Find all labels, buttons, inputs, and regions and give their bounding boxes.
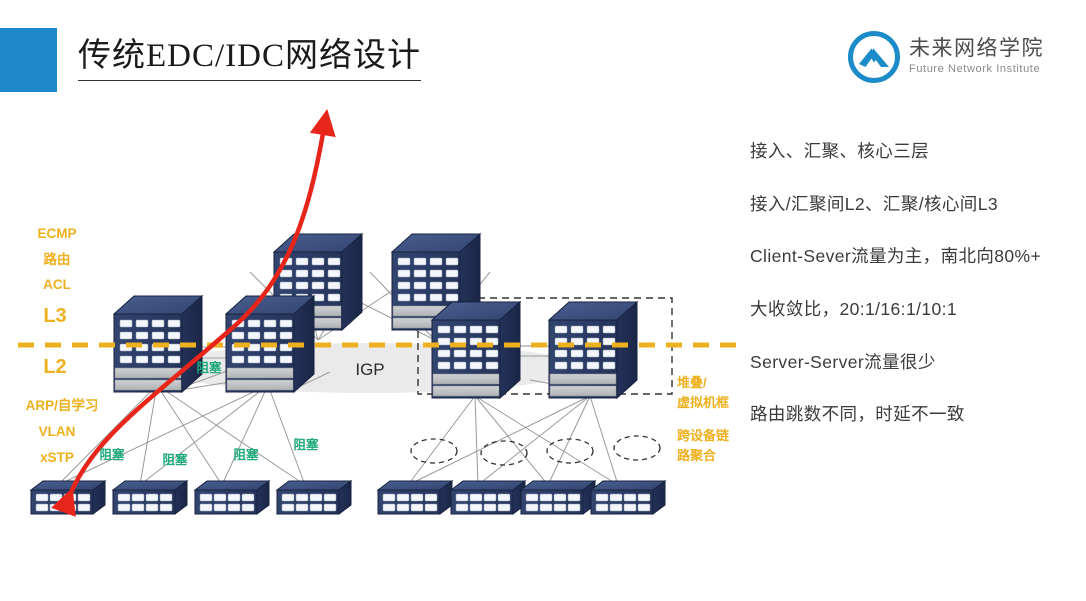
annotation-acl: ACL: [43, 277, 71, 292]
annotation-lag-line1: 跨设备链: [677, 428, 730, 443]
blocked-label: 阻塞: [99, 447, 125, 462]
annotation-routing: 路由: [44, 251, 71, 267]
list-item: 接入、汇聚、核心三层: [750, 140, 1080, 164]
list-item: Client-Sever流量为主，南北向80%+: [750, 245, 1080, 269]
aggregation-switch-stacked[interactable]: [549, 302, 637, 398]
annotation-xstp: xSTP: [40, 450, 74, 465]
title-accent-square: [0, 28, 57, 92]
logo-name-en: Future Network Institute: [909, 62, 1044, 76]
blocked-label: 阻塞: [196, 360, 222, 375]
layer-label-l2: L2: [43, 356, 66, 378]
list-item: Server-Server流量很少: [750, 351, 1080, 375]
access-switch[interactable]: [451, 481, 525, 514]
igp-cloud-label: IGP: [355, 360, 384, 379]
future-network-institute-logo-icon: [848, 31, 900, 83]
list-item: 接入/汇聚间L2、汇聚/核心间L3: [750, 193, 1080, 217]
list-item: 大收敛比，20:1/16:1/10:1: [750, 298, 1080, 322]
blocked-label: 阻塞: [162, 452, 188, 467]
annotation-vlan: VLAN: [39, 424, 76, 439]
blocked-label: 阻塞: [233, 447, 259, 462]
blocked-label: 阻塞: [293, 437, 319, 452]
annotation-stacking-line1: 堆叠/: [677, 375, 707, 390]
network-topology-diagram: IGP: [0, 100, 740, 560]
access-switch[interactable]: [521, 481, 595, 514]
diagram-canvas: IGP: [0, 100, 740, 560]
logo-text-block: 未来网络学院 Future Network Institute: [909, 37, 1044, 76]
annotation-stacking-line2: 虚拟机框: [677, 395, 729, 410]
annotation-arp: ARP/自学习: [26, 397, 99, 413]
lag-bundle-group: [411, 436, 660, 465]
page-title: 传统EDC/IDC网络设计: [78, 36, 421, 81]
access-switch[interactable]: [113, 481, 187, 514]
lag-bundle-ellipse: [547, 439, 593, 463]
lag-bundle-ellipse: [481, 441, 527, 465]
annotation-ecmp: ECMP: [37, 226, 76, 241]
aggregation-switch-stacked[interactable]: [432, 302, 520, 398]
access-switch[interactable]: [195, 481, 269, 514]
brand-logo: 未来网络学院 Future Network Institute: [848, 29, 1078, 85]
access-switch[interactable]: [277, 481, 351, 514]
right-annotation-group: 堆叠/ 虚拟机框 跨设备链 路聚合: [677, 375, 730, 463]
access-switch[interactable]: [591, 481, 665, 514]
layer-label-l3: L3: [43, 305, 66, 327]
annotation-lag-line2: 路聚合: [677, 448, 717, 463]
slide-header: 传统EDC/IDC网络设计 未来网络学院 Future Network Inst…: [0, 0, 1086, 110]
logo-name-cn: 未来网络学院: [909, 37, 1044, 61]
key-points-list: 接入、汇聚、核心三层 接入/汇聚间L2、汇聚/核心间L3 Client-Seve…: [750, 140, 1080, 427]
link-group-stack-access-right: [408, 396, 618, 485]
lag-bundle-ellipse: [614, 436, 660, 460]
list-item: 路由跳数不同，时延不一致: [750, 403, 1080, 427]
access-switch[interactable]: [378, 481, 452, 514]
